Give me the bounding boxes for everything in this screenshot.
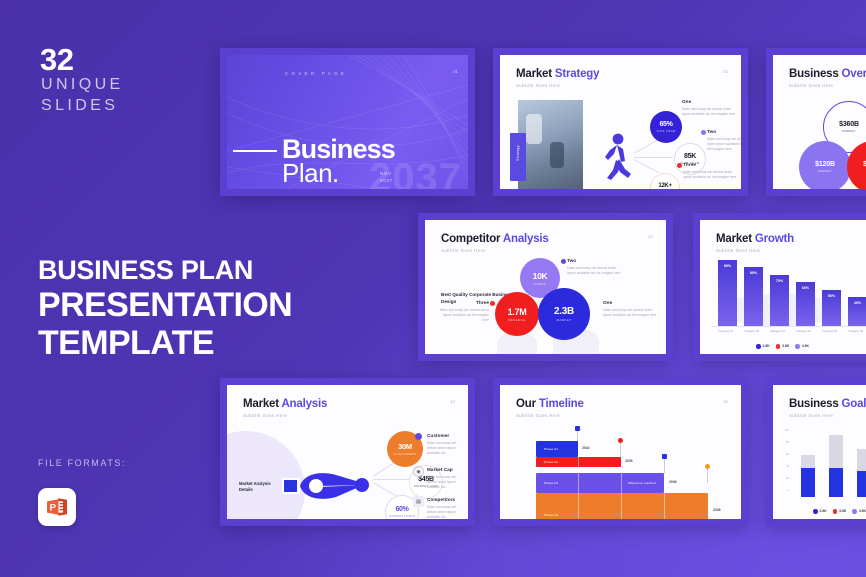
metric-value: 30M bbox=[398, 442, 412, 451]
timeline-bar-phase-04: Phase 04 bbox=[536, 493, 708, 519]
timeline-year-03: 2036 bbox=[669, 480, 677, 484]
business-goal-canvas: Business Goal Subtitle Goes Here 100 80 … bbox=[773, 385, 866, 519]
slide-title-accent: Analysis bbox=[503, 233, 549, 245]
slide-page-number: 12 bbox=[450, 399, 455, 404]
y-axis-tick: 20 bbox=[781, 477, 789, 480]
slide-title: Market Growth bbox=[716, 233, 794, 245]
note-bullet-icon bbox=[561, 259, 566, 264]
timeline-bar-phase-03: Phase 03 Milestone reached bbox=[536, 473, 664, 493]
office-photo bbox=[518, 100, 583, 189]
legend-label: 4.9K bbox=[802, 344, 809, 348]
slide-title: Business Overview bbox=[789, 68, 866, 80]
slide-title-plain: Market bbox=[243, 398, 279, 410]
timeline-gridline bbox=[578, 457, 579, 467]
note-label: Customer bbox=[427, 433, 467, 438]
cover-dash-ornament bbox=[233, 150, 277, 152]
pin-marker-icon bbox=[618, 438, 623, 443]
venn-value: $120B bbox=[815, 161, 835, 168]
slide-title-accent: Strategy bbox=[555, 68, 599, 80]
timeline-xtick-1: 25% bbox=[572, 513, 578, 517]
venn-value: $360B bbox=[839, 121, 859, 128]
connector-line bbox=[373, 482, 398, 497]
timeline-xtick-3: 78% bbox=[658, 513, 664, 517]
legend-swatch-icon bbox=[795, 344, 800, 349]
note-label: Two bbox=[567, 258, 623, 263]
metric-value: 60% bbox=[395, 506, 408, 513]
metric-bubble-12k: 12K+ THIS YEAR bbox=[650, 173, 680, 189]
metric-value: 85K bbox=[684, 153, 696, 160]
note-label: Two bbox=[707, 129, 741, 134]
slide-title-accent: Goal bbox=[842, 398, 866, 410]
bar-value-label: 50% bbox=[822, 294, 841, 298]
legend-swatch-icon bbox=[813, 509, 818, 514]
chart-legend: 2.8K 3.8K 4.9K bbox=[756, 344, 809, 349]
note-body: Make and today win demos lorem ipsum ava… bbox=[603, 308, 659, 318]
slide-title-plain: Market bbox=[516, 68, 552, 80]
note-market-cap: ◉ Market Cap Make and today win demos lo… bbox=[427, 467, 467, 490]
slide-title-plain: Business bbox=[789, 68, 839, 80]
bar-value-label: 60% bbox=[796, 286, 815, 290]
slide-card-cover-page[interactable]: COVER PAGE Business Plan. NOV 2037 Prepa… bbox=[220, 48, 475, 196]
timeline-bar-phase-01: Phase 01 bbox=[536, 441, 578, 457]
y-axis-tick: 60 bbox=[781, 453, 789, 456]
pin-marker-icon bbox=[705, 464, 710, 469]
timeline-bar-phase-02: Phase 02 bbox=[536, 457, 621, 467]
note-one: One Make and today win demos lorem ipsum… bbox=[682, 99, 738, 117]
bar-segment-target bbox=[801, 455, 815, 468]
timeline-xtick-4: 13% bbox=[701, 513, 707, 517]
legend-chip-3: 4.9K bbox=[795, 344, 809, 349]
metric-caption: MARKET bbox=[557, 318, 572, 322]
slide-title-accent: Timeline bbox=[539, 398, 584, 410]
bar-caption-06: Category 06 bbox=[846, 330, 865, 334]
metric-bubble-23b: 2.3B MARKET bbox=[538, 288, 590, 340]
legend-label: 4.9K bbox=[859, 509, 866, 513]
bar-value-label: 40% bbox=[848, 301, 866, 305]
note-bullet-icon bbox=[701, 130, 706, 135]
dot-icon bbox=[415, 433, 422, 440]
stacked-bar-category-02 bbox=[829, 435, 843, 497]
note-label: Three bbox=[683, 162, 737, 167]
competitor-analysis-canvas: Competitor Analysis Subtitle Goes Here 2… bbox=[425, 220, 666, 354]
unique-line-2: SLIDES bbox=[41, 95, 124, 116]
slide-title: Market Strategy bbox=[516, 68, 599, 80]
powerpoint-icon[interactable]: P bbox=[38, 488, 76, 526]
bar-category-03: 70% bbox=[770, 275, 789, 326]
growth-bar-chart: 89% 80% 70% 60% 50% 40% bbox=[714, 260, 866, 326]
connector-line bbox=[634, 139, 659, 154]
timeline-xtick-2: 54% bbox=[615, 513, 621, 517]
note-body: Make and today win demos lorem ipsum ava… bbox=[682, 107, 738, 117]
chart-icon: ▤ bbox=[413, 496, 424, 507]
slide-subtitle: Subtitle Goes Here bbox=[441, 248, 485, 253]
bar-value-label: 70% bbox=[770, 279, 789, 283]
slide-count: 32 bbox=[40, 44, 73, 75]
promo-canvas: 32 UNIQUE SLIDES BUSINESS PLAN PRESENTAT… bbox=[0, 0, 866, 577]
slide-subtitle: Subtitle Goes Here bbox=[516, 83, 560, 88]
slide-subtitle: Subtitle Goes Here bbox=[789, 413, 833, 418]
our-timeline-canvas: Our Timeline Subtitle Goes Here 15 Phase… bbox=[500, 385, 741, 519]
timeline-year-01: 2034 bbox=[582, 446, 590, 450]
y-axis-tick: 100 bbox=[781, 429, 789, 432]
slide-title: Our Timeline bbox=[516, 398, 584, 410]
unique-slides-label: UNIQUE SLIDES bbox=[41, 74, 124, 116]
timeline-bar-label: Phase 04 bbox=[544, 513, 558, 517]
metric-caption: COMPETITORS bbox=[389, 514, 415, 518]
market-analysis-canvas: Market Analysis Subtitle Goes Here 12 Ma… bbox=[227, 385, 468, 519]
bar-segment-target bbox=[857, 449, 866, 471]
slide-card-business-goal[interactable]: Business Goal Subtitle Goes Here 100 80 … bbox=[766, 378, 866, 526]
timeline-year-04: 2038 bbox=[713, 508, 721, 512]
metric-value: 1.7M bbox=[508, 307, 527, 317]
timeline-pin-4 bbox=[707, 467, 708, 483]
slide-card-business-overview[interactable]: Business Overview Subtitle Goes Here $36… bbox=[766, 48, 866, 196]
venn-diagram: $360B MARKET $120B MARKET $120B MARKET bbox=[797, 101, 866, 189]
stacked-bar-category-03 bbox=[857, 449, 866, 497]
legend-chip-2: 3.8K bbox=[833, 509, 847, 514]
powerpoint-glyph: P bbox=[45, 495, 69, 519]
bar-segment-achieved bbox=[857, 471, 866, 497]
legend-chip-3: 4.9K bbox=[852, 509, 866, 514]
slide-card-our-timeline[interactable]: Our Timeline Subtitle Goes Here 15 Phase… bbox=[493, 378, 748, 526]
note-body: Make and today win demos lorem ipsum ava… bbox=[707, 137, 741, 153]
note-bullet-icon bbox=[490, 301, 495, 306]
page-title: BUSINESS PLAN PRESENTATION TEMPLATE bbox=[38, 255, 292, 362]
page-title-line-3: TEMPLATE bbox=[38, 324, 292, 362]
bar-caption-01: Category 01 bbox=[716, 330, 735, 334]
walking-person-icon bbox=[600, 133, 634, 181]
bar-category-05: 50% bbox=[822, 290, 841, 326]
bar-category-01: 89% bbox=[718, 260, 737, 326]
bar-category-06: 40% bbox=[848, 297, 866, 326]
svg-text:P: P bbox=[50, 502, 57, 513]
metric-value: 65% bbox=[659, 121, 672, 128]
slide-subtitle: Subtitle Goes Here bbox=[516, 413, 560, 418]
note-three: Three Make and today win demos lorem ips… bbox=[437, 300, 489, 323]
chart-legend: 2.8K 3.8K 4.9K bbox=[813, 509, 866, 514]
cover-page-number: 01 bbox=[453, 69, 458, 74]
legend-chip-1: 2.8K bbox=[756, 344, 770, 349]
y-axis-tick: 0 bbox=[781, 489, 789, 492]
metric-bubble-65: 65% THIS YEAR bbox=[650, 111, 682, 143]
pin-marker-icon bbox=[662, 454, 667, 459]
y-axis-tick: 80 bbox=[781, 441, 789, 444]
slide-title: Market Analysis bbox=[243, 398, 327, 410]
venn-caption: MARKET bbox=[818, 169, 831, 173]
goal-stacked-chart bbox=[797, 427, 866, 497]
metric-bubble-17m: 1.7M REVENUE bbox=[495, 292, 539, 336]
timeline-bar-label: Phase 01 bbox=[544, 447, 558, 451]
market-strategy-canvas: Market Strategy Subtitle Goes Here 02 St… bbox=[500, 55, 741, 189]
pin-marker-icon bbox=[575, 426, 580, 431]
photo-side-tab-label: Strategy bbox=[516, 133, 520, 173]
timeline-pin-3 bbox=[664, 457, 665, 473]
venn-caption: MARKET bbox=[842, 129, 855, 133]
note-body: Make and today win demos lorem ipsum ava… bbox=[427, 441, 467, 457]
slide-subtitle: Subtitle Goes Here bbox=[716, 248, 760, 253]
metric-value: 10K bbox=[533, 271, 548, 281]
slide-title-accent: Overview bbox=[842, 68, 866, 80]
slide-page-number: 24 bbox=[648, 234, 653, 239]
legend-label: 3.8K bbox=[782, 344, 789, 348]
globe-icon: ◉ bbox=[413, 466, 424, 477]
bar-segment-target bbox=[829, 435, 843, 468]
cover-ghost-year: 2037 bbox=[369, 156, 462, 189]
timeline-bar-note: Milestone reached bbox=[628, 481, 656, 485]
bar-value-label: 89% bbox=[718, 264, 737, 268]
slide-page-number: 02 bbox=[723, 69, 728, 74]
note-body: Make and today win demos lorem ipsum ava… bbox=[427, 475, 467, 491]
note-body: Make and today win demos lorem ipsum ava… bbox=[427, 505, 467, 520]
slide-card-market-growth[interactable]: Market Growth Subtitle Goes Here 89% 80%… bbox=[693, 213, 866, 361]
note-body: Make and today win demos lorem ipsum ava… bbox=[437, 308, 489, 324]
cover-title-line-2: Plan. bbox=[282, 159, 339, 188]
note-label: One bbox=[603, 300, 659, 305]
market-growth-canvas: Market Growth Subtitle Goes Here 89% 80%… bbox=[700, 220, 866, 354]
slide-title-plain: Our bbox=[516, 398, 536, 410]
note-body: Make and today win demos lorem ipsum ava… bbox=[567, 266, 623, 276]
promo-left-panel: 32 UNIQUE SLIDES BUSINESS PLAN PRESENTAT… bbox=[0, 0, 220, 577]
page-title-line-2: PRESENTATION bbox=[38, 286, 292, 324]
bar-caption-04: Category 04 bbox=[794, 330, 813, 334]
note-bullet-icon bbox=[677, 163, 682, 168]
metric-caption: CUSTOMERS bbox=[394, 452, 417, 456]
note-label: Three bbox=[437, 300, 489, 305]
slide-title: Competitor Analysis bbox=[441, 233, 549, 245]
bar-value-label: 80% bbox=[744, 271, 763, 275]
stacked-bar-category-01 bbox=[801, 455, 815, 497]
slide-card-market-strategy[interactable]: Market Strategy Subtitle Goes Here 02 St… bbox=[493, 48, 748, 196]
unique-line-1: UNIQUE bbox=[41, 74, 124, 95]
business-overview-canvas: Business Overview Subtitle Goes Here $36… bbox=[773, 55, 866, 189]
side-label: Market Analysis Details bbox=[239, 481, 279, 493]
note-label: Competitors bbox=[427, 497, 467, 502]
metric-caption: REVENUE bbox=[508, 318, 525, 322]
photo-side-tab: Strategy bbox=[510, 133, 526, 181]
timeline-pin-2 bbox=[620, 441, 621, 457]
slide-page-number: 15 bbox=[723, 399, 728, 404]
bar-category-04: 60% bbox=[796, 282, 815, 326]
bar-segment-achieved bbox=[829, 468, 843, 497]
bar-caption-02: Category 02 bbox=[742, 330, 761, 334]
timeline-gridline bbox=[578, 473, 579, 493]
timeline-bar-label: Phase 03 bbox=[544, 481, 558, 485]
chart-baseline bbox=[712, 326, 866, 327]
connector-line bbox=[634, 157, 673, 158]
slide-title-accent: Growth bbox=[755, 233, 794, 245]
legend-label: 2.8K bbox=[820, 509, 827, 513]
metric-caption: THIS YEAR bbox=[656, 129, 675, 133]
slide-title: Business Goal bbox=[789, 398, 866, 410]
metric-value: 2.3B bbox=[554, 306, 574, 317]
slide-subtitle: Subtitle Goes Here bbox=[243, 413, 287, 418]
note-label: One bbox=[682, 99, 738, 104]
legend-swatch-icon bbox=[833, 509, 838, 514]
file-formats-label: FILE FORMATS: bbox=[38, 458, 126, 468]
slide-title-plain: Business bbox=[789, 398, 839, 410]
connector-line bbox=[634, 159, 659, 173]
legend-label: 2.8K bbox=[763, 344, 770, 348]
bar-caption-03: Category 03 bbox=[768, 330, 787, 334]
slide-title-plain: Competitor bbox=[441, 233, 500, 245]
note-three: Three Make and today win demos lorem ips… bbox=[683, 162, 737, 180]
legend-label: 3.8K bbox=[839, 509, 846, 513]
note-label: Market Cap bbox=[427, 467, 467, 472]
legend-swatch-icon bbox=[756, 344, 761, 349]
page-title-line-1: BUSINESS PLAN bbox=[38, 255, 292, 286]
legend-chip-2: 3.8K bbox=[776, 344, 790, 349]
note-two: Two Make and today win demos lorem ipsum… bbox=[567, 258, 623, 276]
slide-title-accent: Analysis bbox=[281, 398, 327, 410]
bar-segment-achieved bbox=[801, 468, 815, 497]
slide-subtitle: Subtitle Goes Here bbox=[789, 83, 833, 88]
note-customer: Customer Make and today win demos lorem … bbox=[427, 433, 467, 456]
slide-card-competitor-analysis[interactable]: Competitor Analysis Subtitle Goes Here 2… bbox=[418, 213, 673, 361]
note-competitors: ▤ Competitors Make and today win demos l… bbox=[427, 497, 467, 519]
note-one: One Make and today win demos lorem ipsum… bbox=[603, 300, 659, 318]
bar-caption-05: Category 05 bbox=[820, 330, 839, 334]
cover-eyebrow: COVER PAGE bbox=[285, 71, 347, 76]
timeline-bar-label: Phase 02 bbox=[544, 460, 558, 464]
bar-category-02: 80% bbox=[744, 267, 763, 326]
pen-nib-icon bbox=[282, 469, 370, 503]
venn-circle-left: $120B MARKET bbox=[799, 141, 851, 189]
metric-caption: USERS bbox=[534, 282, 546, 286]
timeline-year-02: 2035 bbox=[625, 459, 633, 463]
timeline-gridline bbox=[621, 473, 622, 493]
slide-card-market-analysis[interactable]: Market Analysis Subtitle Goes Here 12 Ma… bbox=[220, 378, 475, 526]
legend-swatch-icon bbox=[852, 509, 857, 514]
legend-chip-1: 2.8K bbox=[813, 509, 827, 514]
cover-canvas: COVER PAGE Business Plan. NOV 2037 Prepa… bbox=[227, 55, 468, 189]
y-axis-tick: 40 bbox=[781, 465, 789, 468]
note-body: Make and today win demos lorem ipsum ava… bbox=[683, 170, 737, 180]
slide-title-plain: Market bbox=[716, 233, 752, 245]
note-two: Two Make and today win demos lorem ipsum… bbox=[707, 129, 741, 152]
legend-swatch-icon bbox=[776, 344, 781, 349]
metric-value: 12K+ bbox=[658, 183, 671, 189]
